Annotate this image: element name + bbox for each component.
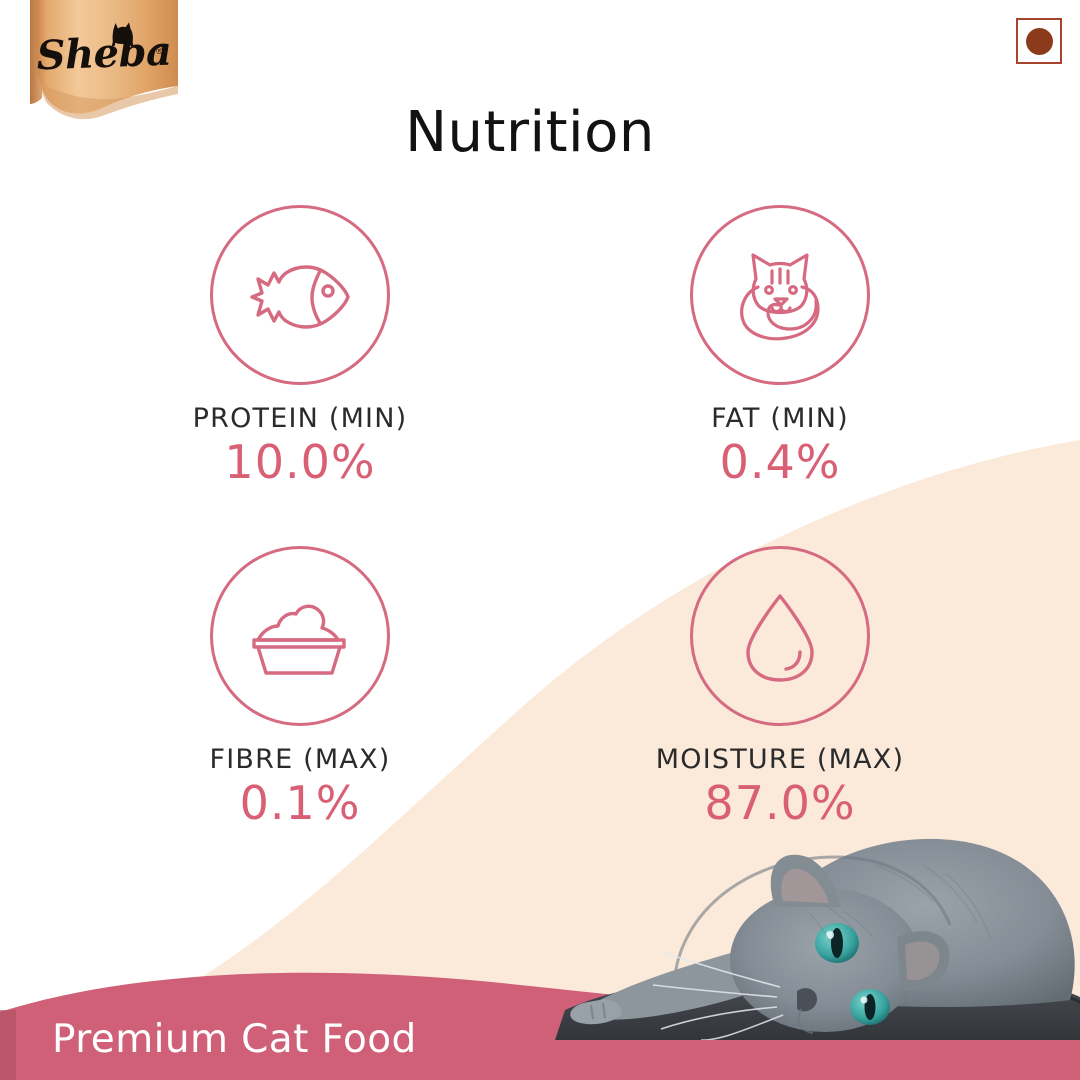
nutrient-label: FAT (MIN) [711, 403, 849, 434]
non-veg-dot-icon [1026, 28, 1053, 55]
nutrient-item-protein: PROTEIN (MIN) 10.0% [60, 205, 540, 486]
nutrient-value: 0.1% [240, 779, 361, 827]
nutrition-grid: PROTEIN (MIN) 10.0% [60, 205, 1020, 828]
fat-icon-ring [690, 205, 870, 385]
cat-eye-highlight-lower [861, 997, 868, 1004]
nutrient-item-moisture: MOISTURE (MAX) 87.0% [540, 546, 1020, 827]
cat-icon [720, 235, 840, 355]
product-nutrition-infographic: Sheba ® Nutrition PROTEIN (MIN) 10.0% [0, 0, 1080, 1080]
protein-icon-ring [210, 205, 390, 385]
food-bowl-icon [240, 576, 360, 696]
nutrient-item-fibre: FIBRE (MAX) 0.1% [60, 546, 540, 827]
page-title: Nutrition [405, 105, 655, 161]
cat-head [730, 888, 920, 1032]
nutrient-item-fat: FAT (MIN) 0.4% [540, 205, 1020, 486]
cat-photo [525, 795, 1080, 1040]
water-drop-icon [720, 576, 840, 696]
moisture-icon-ring [690, 546, 870, 726]
fibre-icon-ring [210, 546, 390, 726]
nutrient-value: 0.4% [720, 438, 841, 486]
nutrient-value: 10.0% [224, 438, 375, 486]
banner-left-shadow [0, 1010, 16, 1080]
nutrient-label: FIBRE (MAX) [210, 744, 391, 775]
nutrient-value: 87.0% [704, 779, 855, 827]
nutrition-banner: Nutrition [150, 94, 910, 172]
nutrient-label: MOISTURE (MAX) [656, 744, 904, 775]
nutrient-label: PROTEIN (MIN) [193, 403, 408, 434]
registered-mark: ® [156, 46, 163, 56]
fish-icon [240, 235, 360, 355]
non-veg-marker [1016, 18, 1062, 64]
footer-tagline: Premium Cat Food [52, 1020, 417, 1059]
